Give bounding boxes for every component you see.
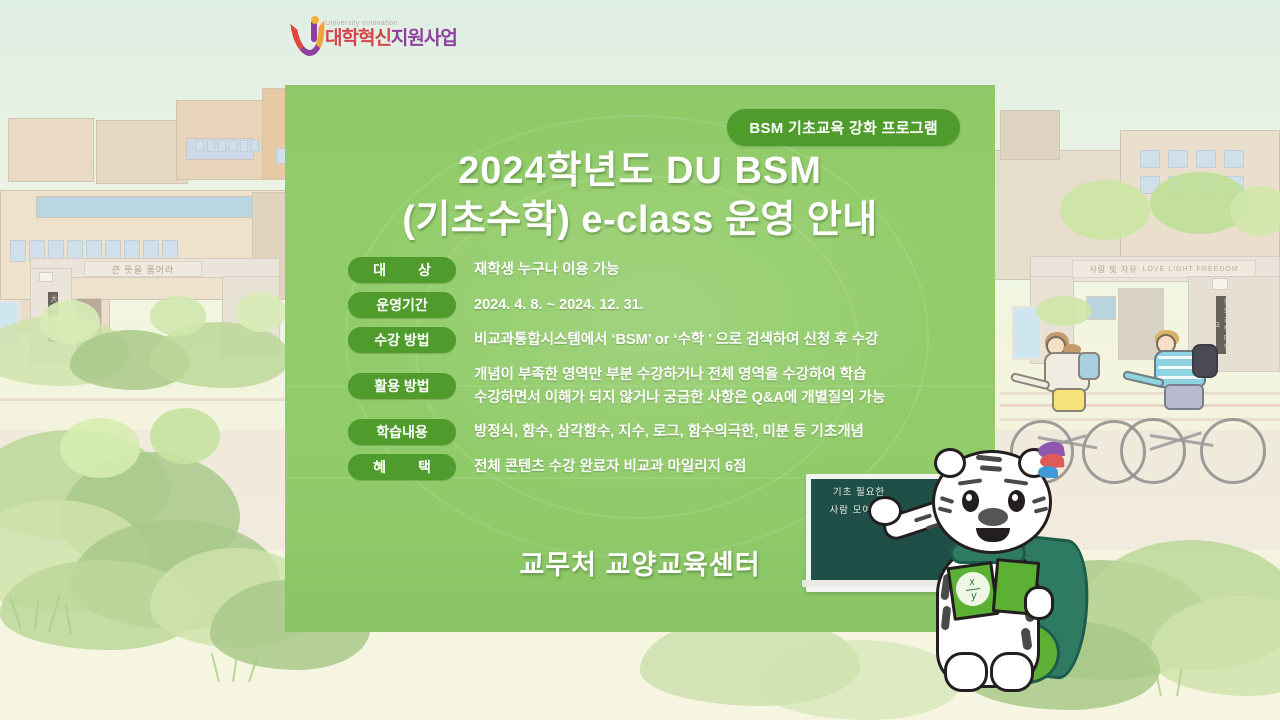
info-table: 대 상 재학생 누구나 이용 가능 운영기간 2024. 4. 8. ~ 202… — [348, 257, 958, 489]
mascot-eye-right — [1008, 490, 1025, 512]
info-row-label: 대 상 — [348, 257, 456, 283]
title-line-1: 2024학년도 DU BSM — [285, 147, 995, 196]
left-gate-sign: 큰 뜻을 품어라 — [84, 261, 202, 277]
info-row-value: 재학생 누구나 이용 가능 — [474, 257, 620, 282]
info-row-label: 수강 방법 — [348, 327, 456, 353]
mascot-raised-hand — [868, 496, 902, 526]
info-row-value-line: 방정식, 함수, 삼각함수, 지수, 로그, 함수의극한, 미분 등 기초개념 — [474, 421, 864, 444]
mascot-crest-blue — [1038, 466, 1058, 478]
info-row-value-line: 비교과통합시스템에서 ‘BSM’ or ‘수학 ’ 으로 검색하여 신청 후 수… — [474, 329, 878, 352]
mascot-leg-left — [944, 652, 988, 692]
logo-korean-second: 지원사업 — [391, 28, 457, 49]
info-row-value-line: 개념이 부족한 영역만 부분 수강하거나 전체 영역을 수강하여 학습 — [474, 364, 885, 387]
info-row: 운영기간 2024. 4. 8. ~ 2024. 12. 31. — [348, 292, 958, 318]
info-row-value: 방정식, 함수, 삼각함수, 지수, 로그, 함수의극한, 미분 등 기초개념 — [474, 419, 864, 444]
logo-korean-text: 대학혁신지원사업 — [325, 29, 457, 48]
page-title: 2024학년도 DU BSM (기초수학) e-class 운영 안내 — [285, 147, 995, 244]
info-row-value: 개념이 부족한 영역만 부분 수강하거나 전체 영역을 수강하여 학습 수강하면… — [474, 362, 885, 410]
info-row-label: 운영기간 — [348, 292, 456, 318]
logo-korean-first: 대학혁신 — [325, 28, 391, 49]
info-row-value-line: 수강하면서 이해가 되지 않거나 궁금한 사항은 Q&A에 개별질의 가능 — [474, 387, 885, 410]
info-row-label: 혜 택 — [348, 454, 456, 480]
title-line-2: (기초수학) e-class 운영 안내 — [285, 196, 995, 245]
logo-english-text: University innovation — [325, 20, 457, 27]
mascot-eye-left — [962, 490, 979, 512]
book-numerator: x — [969, 576, 976, 588]
mascot-ear-left — [934, 448, 966, 478]
info-row-value: 비교과통합시스템에서 ‘BSM’ or ‘수학 ’ 으로 검색하여 신청 후 수… — [474, 327, 878, 352]
poster-canvas: 큰 뜻을 품어라 大東大學校 사랑 빛 자유 LOVE LIGHT FREEDO… — [0, 0, 1280, 720]
mascot-leg-right — [990, 652, 1034, 692]
logo-mark-icon — [292, 16, 320, 48]
info-row-label: 학습내용 — [348, 419, 456, 445]
mascot-nose — [978, 508, 1008, 526]
info-row: 수강 방법 비교과통합시스템에서 ‘BSM’ or ‘수학 ’ 으로 검색하여 … — [348, 327, 958, 353]
info-row: 대 상 재학생 누구나 이용 가능 — [348, 257, 958, 283]
right-gate-sign-en: LOVE LIGHT FREEDOM — [1143, 266, 1239, 273]
tiger-mascot: x y — [898, 446, 1128, 698]
info-row: 활용 방법 개념이 부족한 영역만 부분 수강하거나 전체 영역을 수강하여 학… — [348, 362, 958, 410]
mascot-hand — [1024, 586, 1054, 620]
info-row-label: 활용 방법 — [348, 373, 456, 399]
right-gate-pillar-text: 동의과학대학교 — [1216, 296, 1226, 354]
university-innovation-logo: University innovation 대학혁신지원사업 — [292, 16, 457, 48]
info-row-value: 전체 콘텐츠 수강 완료자 비교과 마일리지 6점 — [474, 454, 746, 479]
info-row-value-line: 재학생 누구나 이용 가능 — [474, 259, 620, 282]
right-gate-sign-ko: 사랑 빛 자유 — [1089, 264, 1137, 275]
info-row-value-line: 2024. 4. 8. ~ 2024. 12. 31. — [474, 294, 644, 317]
program-badge: BSM 기초교육 강화 프로그램 — [727, 109, 960, 146]
info-row: 학습내용 방정식, 함수, 삼각함수, 지수, 로그, 함수의극한, 미분 등 … — [348, 419, 958, 445]
info-row-value: 2024. 4. 8. ~ 2024. 12. 31. — [474, 292, 644, 317]
info-row-value-line: 전체 콘텐츠 수강 완료자 비교과 마일리지 6점 — [474, 456, 746, 479]
book-denominator: y — [970, 590, 977, 602]
